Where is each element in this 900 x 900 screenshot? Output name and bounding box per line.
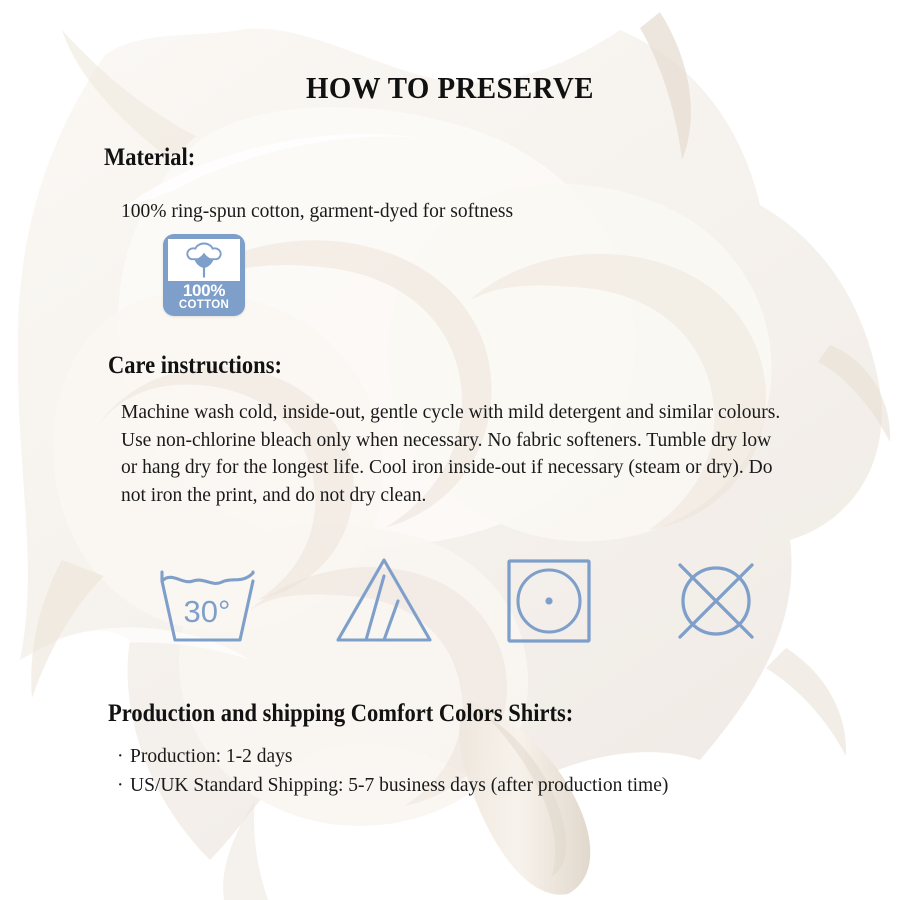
list-item: ·Production: 1-2 days <box>117 742 837 771</box>
list-item: ·US/UK Standard Shipping: 5-7 business d… <box>117 771 837 800</box>
cotton-badge: 100% COTTON <box>163 234 245 316</box>
care-symbol-row: 30° <box>150 548 770 658</box>
production-bullet-list: ·Production: 1-2 days ·US/UK Standard Sh… <box>117 742 837 800</box>
page-title: HOW TO PRESERVE <box>32 70 869 106</box>
do-not-dry-clean-icon <box>660 548 780 658</box>
list-item-label: US/UK Standard Shipping: 5-7 business da… <box>130 775 668 796</box>
section-heading-care: Care instructions: <box>108 352 282 380</box>
care-instructions-page: HOW TO PRESERVE Material: 100% ring-spun… <box>0 0 900 900</box>
bullet-dot: · <box>117 742 130 771</box>
wash-tub-30-icon: 30° <box>150 548 270 658</box>
section-heading-material: Material: <box>104 144 195 172</box>
section-heading-production: Production and shipping Comfort Colors S… <box>108 700 573 728</box>
cotton-boll-icon <box>182 241 226 279</box>
tumble-dry-low-icon <box>495 548 615 658</box>
non-chlorine-bleach-icon <box>328 548 448 658</box>
list-item-label: Production: 1-2 days <box>130 746 292 767</box>
care-instructions-body: Machine wash cold, inside-out, gentle cy… <box>121 399 786 509</box>
badge-cotton-label: COTTON <box>163 299 245 311</box>
material-description: 100% ring-spun cotton, garment-dyed for … <box>121 198 761 226</box>
badge-percent-label: 100% <box>163 281 245 301</box>
wash-temperature-label: 30° <box>184 594 231 629</box>
bullet-dot: · <box>117 771 130 800</box>
